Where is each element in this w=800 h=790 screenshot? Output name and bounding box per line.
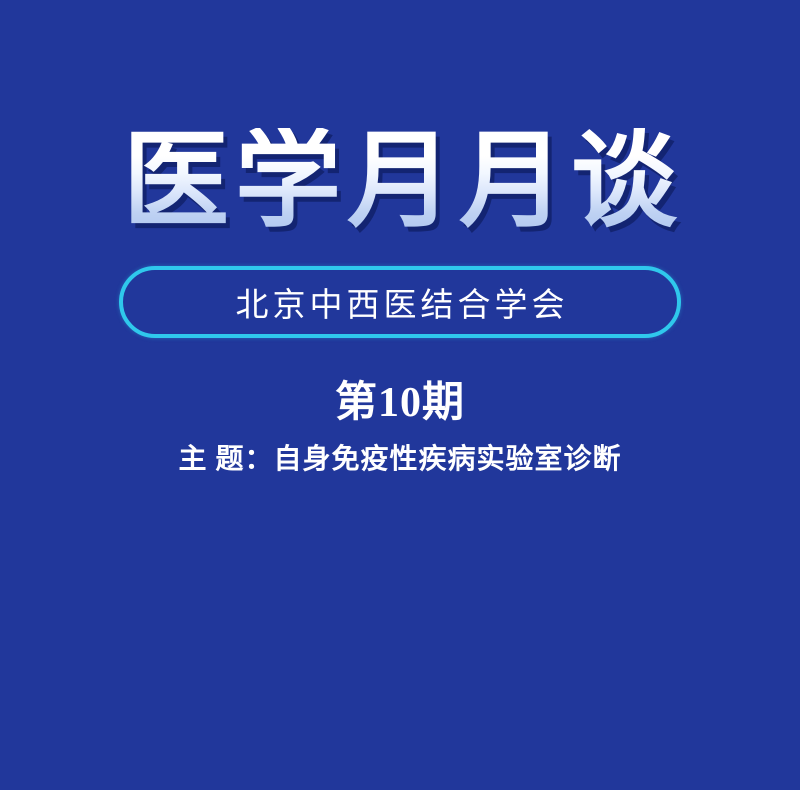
organization-label: 北京中西医结合学会 (232, 278, 569, 326)
organization-pill: 北京中西医结合学会 (119, 266, 681, 338)
theme-line-wrap: 主 题：自身免疫性疾病实验室诊断 (0, 437, 800, 477)
main-title: 医学月月谈 (117, 128, 683, 236)
issue-number: 第10期 (335, 380, 465, 426)
issue-number-wrap: 第10期 (0, 368, 800, 429)
main-title-block: 医学月月谈 (0, 128, 800, 236)
organization-pill-wrap: 北京中西医结合学会 (0, 266, 800, 338)
poster-canvas: 医学月月谈 北京中西医结合学会 第10期 主 题：自身免疫性疾病实验室诊断 (0, 0, 800, 790)
lower-blank-area (0, 500, 800, 790)
theme-line: 主 题：自身免疫性疾病实验室诊断 (178, 444, 621, 475)
